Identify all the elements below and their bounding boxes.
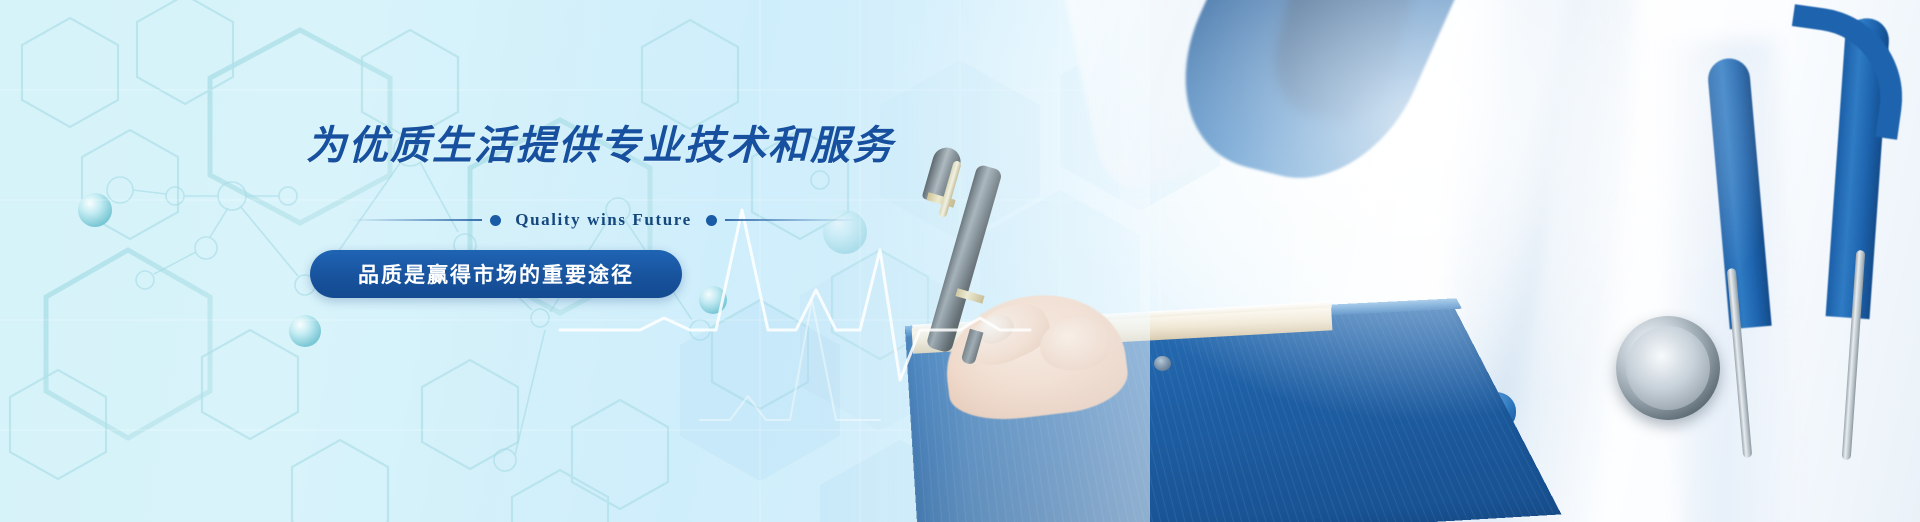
- clipboard-rivet: [996, 347, 1013, 362]
- heartbeat-line: [0, 0, 1920, 522]
- stethoscope-chestpiece-rim: [1626, 326, 1710, 410]
- pen-tip: [961, 329, 984, 366]
- necktie-shadow: [1262, 0, 1417, 132]
- bullet-dot-right: [706, 215, 717, 226]
- stethoscope-chestpiece: [1616, 316, 1720, 420]
- doctor-white-coat: [1290, 0, 1920, 522]
- pen-ring: [926, 192, 955, 207]
- hand: [938, 285, 1131, 426]
- clipboard-paper-edge: [912, 301, 1332, 330]
- stethoscope-stem-right: [1842, 250, 1866, 460]
- knuckle: [1037, 314, 1112, 373]
- banner-text-block: 为优质生活提供专业技术和服务 Quality wins Future 品质是赢得…: [306, 126, 926, 298]
- clipboard: [905, 303, 1561, 522]
- stethoscope-eartip: [1476, 392, 1516, 430]
- stethoscope-tube-right: [1826, 17, 1891, 319]
- stethoscope-stem-left: [1727, 268, 1753, 458]
- necktie: [1143, 0, 1490, 197]
- stethoscope-tube-left: [1706, 57, 1771, 330]
- clipboard-paper: [912, 304, 1333, 353]
- bullet-dot-left: [490, 215, 501, 226]
- stethoscope-tube-bend: [1778, 4, 1914, 140]
- pen-clip: [938, 160, 962, 218]
- pen-ring: [955, 288, 984, 303]
- divider-line-right: [725, 219, 856, 221]
- thumb: [959, 293, 1057, 375]
- thumbnail: [974, 310, 1017, 348]
- hexagon-molecule-pattern: [0, 0, 1920, 522]
- subtitle-row: Quality wins Future: [351, 210, 856, 230]
- grid-lines-decor: [0, 0, 1920, 522]
- pen-cap: [922, 144, 964, 206]
- hexagon-overlay-pattern: [0, 0, 1920, 522]
- subtitle-en: Quality wins Future: [509, 210, 698, 230]
- clipboard-texture: [905, 303, 1561, 522]
- coat-lapel-edge: [1460, 0, 1573, 442]
- clipboard-rivet: [1154, 356, 1171, 371]
- divider-line-left: [351, 219, 482, 221]
- clipboard-top-edge: [905, 298, 1462, 337]
- coat-fold-left: [1431, 0, 1640, 522]
- hero-banner: 为优质生活提供专业技术和服务 Quality wins Future 品质是赢得…: [0, 0, 1920, 522]
- photo-light-glow: [1120, 0, 1920, 522]
- cta-button[interactable]: 品质是赢得市场的重要途径: [310, 250, 682, 298]
- coat-fold-right: [1656, 37, 1803, 522]
- pen-body: [926, 164, 1003, 354]
- page-title: 为优质生活提供专业技术和服务: [306, 126, 926, 166]
- coat-collar: [1057, 0, 1254, 193]
